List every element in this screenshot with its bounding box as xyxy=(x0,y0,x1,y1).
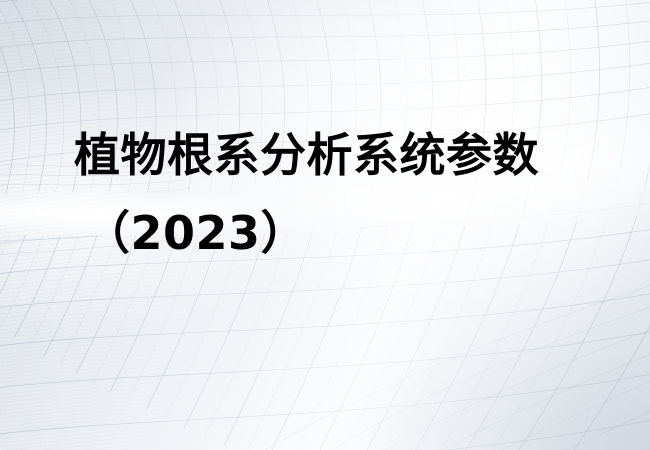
title-slide: 植物根系分析系统参数 （2023） xyxy=(0,0,650,450)
title-block: 植物根系分析系统参数 （2023） xyxy=(0,132,650,256)
page-title-line-2: （2023） xyxy=(0,210,650,256)
page-title-line-1: 植物根系分析系统参数 xyxy=(0,132,650,178)
